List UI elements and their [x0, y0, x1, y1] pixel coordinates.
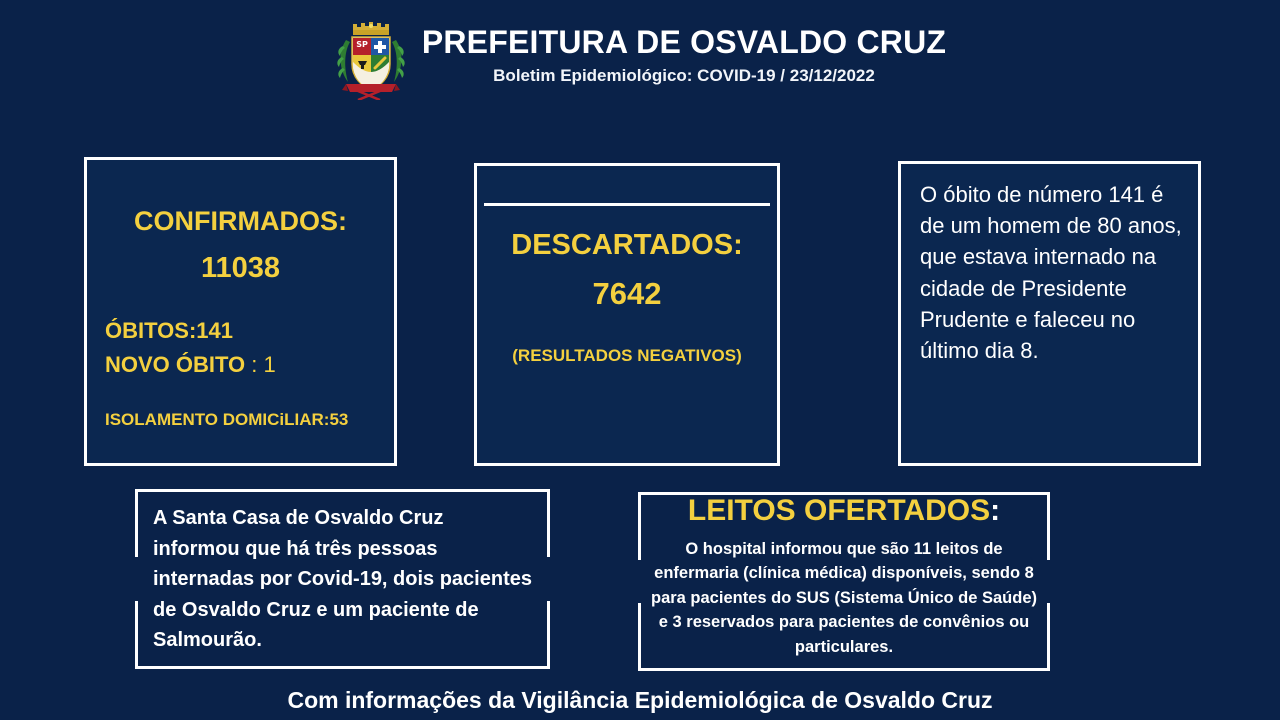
descartados-note: (RESULTADOS NEGATIVOS)	[477, 346, 777, 366]
card-descartados-inner: DESCARTADOS: 7642 (RESULTADOS NEGATIVOS)	[477, 166, 777, 463]
obitos-total: ÓBITOS:141	[105, 318, 233, 344]
bracket-right-lower	[547, 601, 550, 669]
coat-of-arms-icon: SP	[334, 12, 408, 100]
leitos-title-row: LEITOS OFERTADOS:	[638, 495, 1050, 527]
bracket-left-lower	[638, 603, 641, 671]
confirmados-label: CONFIRMADOS:	[87, 206, 394, 237]
bracket-top-edge	[135, 489, 550, 492]
bracket-left-upper	[135, 489, 138, 557]
bracket-right-upper	[547, 489, 550, 557]
page-title: PREFEITURA DE OSVALDO CRUZ	[422, 26, 946, 60]
descartados-label: DESCARTADOS:	[477, 229, 777, 262]
leitos-title-colon: :	[990, 494, 1000, 527]
descartados-value: 7642	[477, 276, 777, 312]
page-subtitle: Boletim Epidemiológico: COVID-19 / 23/12…	[493, 66, 875, 86]
bracket-bottom-edge	[135, 666, 550, 669]
card-descartados: DESCARTADOS: 7642 (RESULTADOS NEGATIVOS)	[474, 163, 780, 466]
obito-description: O óbito de número 141 é de um homem de 8…	[920, 179, 1183, 366]
footer-credit: Com informações da Vigilância Epidemioló…	[0, 687, 1280, 714]
page-header: SP PREFEITURA DE OSVALDO CRUZ Boletim	[0, 0, 1280, 110]
leitos-description: O hospital informou que são 11 leitos de…	[650, 537, 1038, 659]
card-divider	[484, 203, 770, 206]
novo-obito-label: NOVO ÓBITO	[105, 352, 245, 377]
bracket-right-lower	[1047, 603, 1050, 671]
svg-text:SP: SP	[356, 40, 368, 49]
card-obito-inner: O óbito de número 141 é de um homem de 8…	[901, 164, 1198, 463]
header-inner: SP PREFEITURA DE OSVALDO CRUZ Boletim	[334, 12, 946, 100]
header-text-block: PREFEITURA DE OSVALDO CRUZ Boletim Epide…	[422, 26, 946, 87]
confirmados-value: 11038	[87, 252, 394, 285]
novo-obito-value: : 1	[245, 352, 276, 377]
santa-casa-text: A Santa Casa de Osvaldo Cruz informou qu…	[153, 503, 534, 656]
novo-obito-row: NOVO ÓBITO : 1	[105, 352, 276, 378]
bracket-bottom-edge	[638, 668, 1050, 671]
card-confirmados-inner: CONFIRMADOS: 11038 ÓBITOS:141 NOVO ÓBITO…	[87, 160, 394, 463]
box-leitos-ofertados: LEITOS OFERTADOS: O hospital informou qu…	[638, 492, 1050, 671]
isolamento-domiciliar: ISOLAMENTO DOMICiLIAR:53	[105, 410, 348, 430]
card-confirmados: CONFIRMADOS: 11038 ÓBITOS:141 NOVO ÓBITO…	[84, 157, 397, 466]
box-santa-casa: A Santa Casa de Osvaldo Cruz informou qu…	[135, 489, 550, 669]
leitos-title-label: LEITOS OFERTADOS	[688, 494, 990, 527]
card-obito-detail: O óbito de número 141 é de um homem de 8…	[898, 161, 1201, 466]
bracket-left-lower	[135, 601, 138, 669]
